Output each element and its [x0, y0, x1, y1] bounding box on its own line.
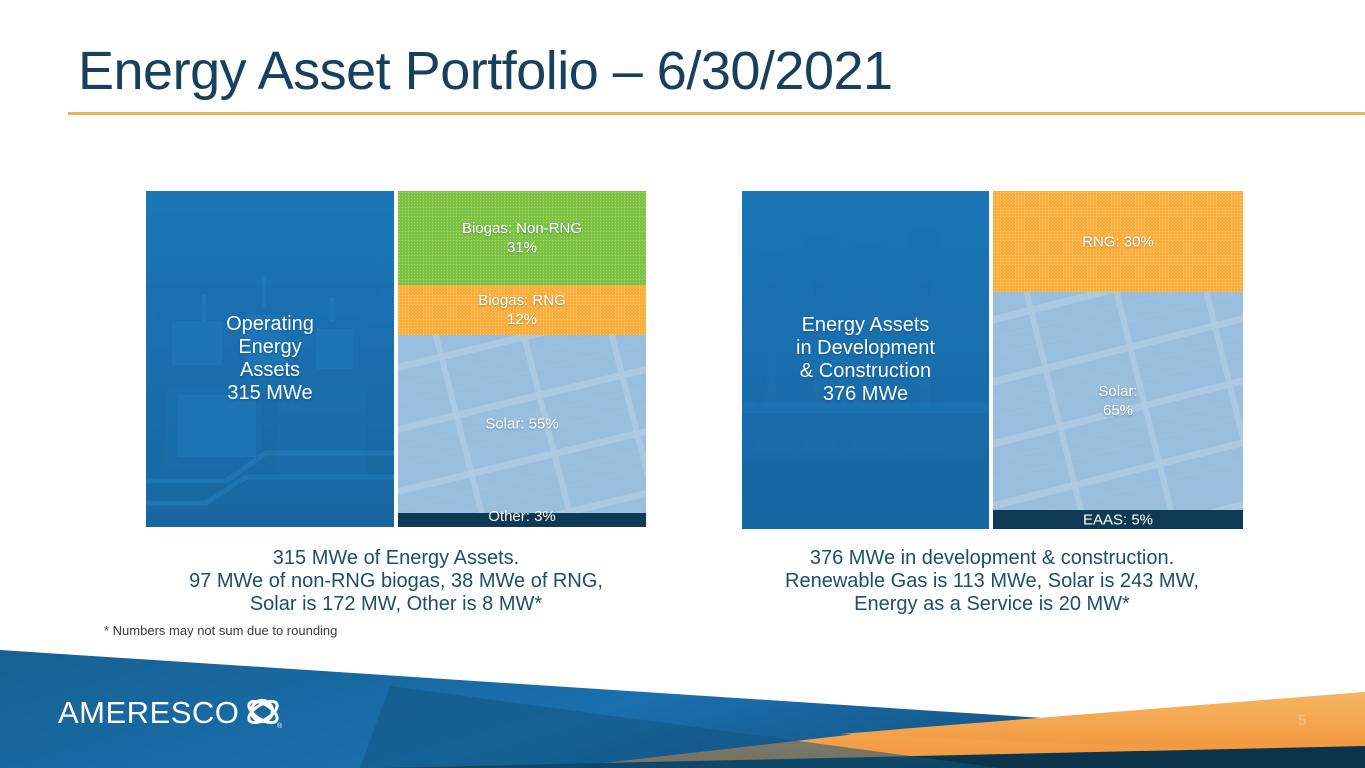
- bar-segment-label: RNG: 30%: [993, 232, 1243, 251]
- page-title: Energy Asset Portfolio – 6/30/2021: [78, 38, 893, 104]
- stacked-bar-development: RNG: 30%: [993, 191, 1243, 529]
- bar-segment-label: Solar: 55%: [398, 415, 646, 434]
- bar-segment-label: Biogas: Non-RNG 31%: [398, 219, 646, 257]
- svg-text:®: ®: [277, 722, 283, 730]
- caption-operating: 315 MWe of Energy Assets. 97 MWe of non-…: [96, 547, 696, 616]
- ameresco-logo: AMERESCO ®: [58, 693, 285, 733]
- bar-segment-label-other: Other: 3%: [398, 507, 646, 526]
- panel-caption-development: Energy Assets in Development & Construct…: [742, 314, 989, 406]
- bar-segment-eaas: EAAS: 5%: [993, 510, 1243, 529]
- bar-segment-biogas-rng: Biogas: RNG 12%: [398, 285, 646, 335]
- bar-segment-biogas-non-rng: Biogas: Non-RNG 31%: [398, 191, 646, 285]
- bar-segment-solar: Solar: 55%: [398, 335, 646, 513]
- caption-development: 376 MWe in development & construction. R…: [742, 547, 1242, 616]
- bar-segment-label: EAAS: 5%: [993, 510, 1243, 529]
- bar-segment-label: Biogas: RNG 12%: [398, 291, 646, 329]
- panel-caption-operating: Operating Energy Assets 315 MWe: [146, 313, 394, 405]
- logo-wordmark: AMERESCO: [58, 695, 239, 731]
- photo-panel-development: Energy Assets in Development & Construct…: [742, 191, 989, 529]
- stacked-bar-operating: Biogas: Non-RNG 31% Biogas: RNG 12%: [398, 191, 646, 527]
- bar-segment-solar: Solar: 65%: [993, 292, 1243, 510]
- page-number: 5: [1298, 712, 1306, 729]
- bar-segment-rng: RNG: 30%: [993, 191, 1243, 292]
- ameresco-orbital-mark: ®: [243, 693, 285, 733]
- title-underline-rule: [68, 112, 1365, 115]
- bar-segment-label: Solar: 65%: [993, 382, 1243, 420]
- photo-panel-operating: Operating Energy Assets 315 MWe: [146, 191, 394, 527]
